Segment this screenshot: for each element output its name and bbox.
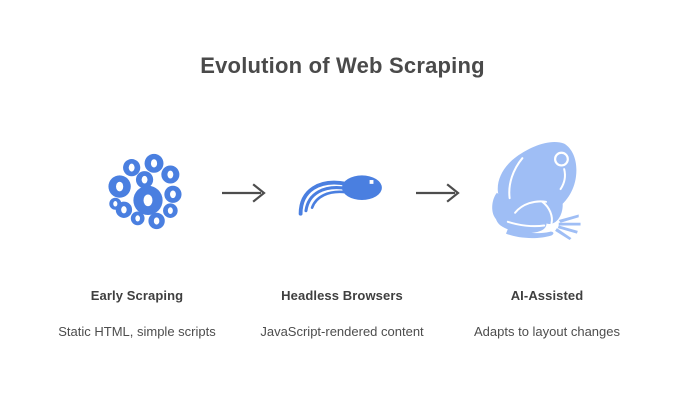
frog-icon [486, 138, 586, 247]
page-title: Evolution of Web Scraping [0, 52, 685, 80]
stage-captions-row: Early Scraping Static HTML, simple scrip… [42, 288, 642, 341]
slide-canvas: Evolution of Web Scraping [0, 0, 685, 420]
stage-icon-early-scraping [92, 135, 204, 250]
connector-arrow-2 [409, 173, 469, 213]
caption-ai-assisted: AI-Assisted Adapts to layout changes [452, 288, 642, 341]
stage-progression-row [92, 135, 592, 250]
tadpole-icon [296, 160, 388, 225]
arrow-right-icon [221, 182, 269, 204]
stage-description-headless-browsers: JavaScript-rendered content [247, 322, 437, 341]
stage-icon-headless-browsers [286, 135, 398, 250]
stage-description-ai-assisted: Adapts to layout changes [452, 322, 642, 341]
stage-description-early-scraping: Static HTML, simple scripts [42, 322, 232, 341]
stage-title-early-scraping: Early Scraping [42, 288, 232, 304]
caption-early-scraping: Early Scraping Static HTML, simple scrip… [42, 288, 232, 341]
egg-cluster-icon [105, 147, 191, 238]
stage-title-headless-browsers: Headless Browsers [247, 288, 437, 304]
caption-headless-browsers: Headless Browsers JavaScript-rendered co… [247, 288, 437, 341]
connector-arrow-1 [215, 173, 275, 213]
arrow-right-icon [415, 182, 463, 204]
stage-title-ai-assisted: AI-Assisted [452, 288, 642, 304]
stage-icon-ai-assisted [480, 135, 592, 250]
